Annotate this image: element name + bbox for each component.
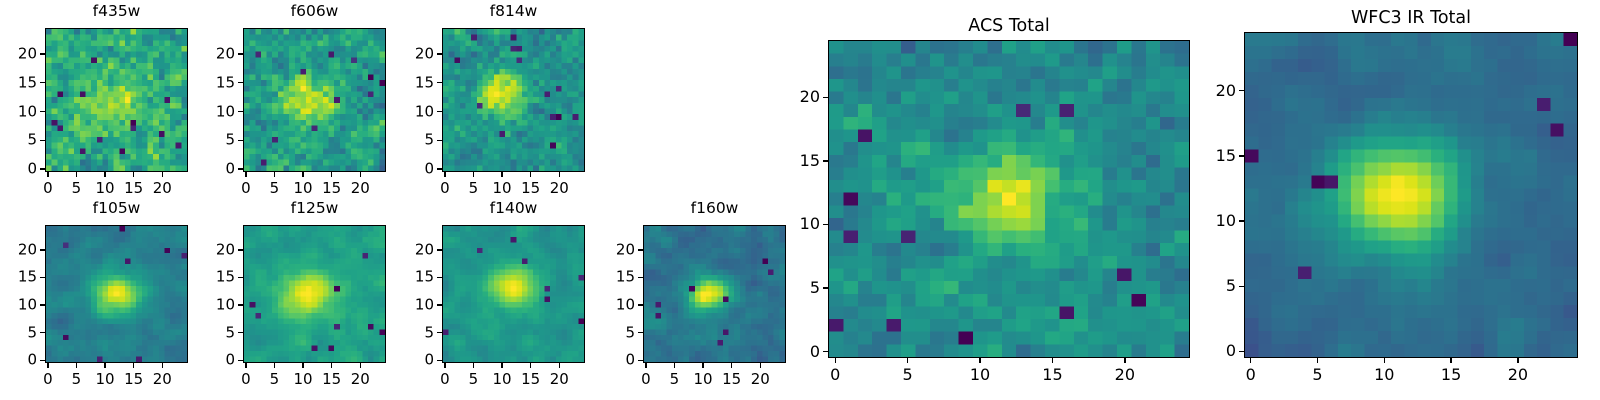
x-tick-label: 10 xyxy=(96,181,115,196)
axes-f140w xyxy=(442,225,585,363)
x-tick-label: 20 xyxy=(153,181,172,196)
y-tick xyxy=(823,287,828,288)
x-tick-label: 0 xyxy=(830,367,840,383)
axes-f814w xyxy=(442,28,585,172)
panel-title-f140w: f140w xyxy=(442,201,585,217)
x-tick-label: 15 xyxy=(322,181,341,196)
panel-title-f814w: f814w xyxy=(442,4,585,20)
x-tick-label: 5 xyxy=(469,372,479,387)
y-tick-label: 20 xyxy=(0,46,37,61)
y-tick-label: 20 xyxy=(181,242,235,257)
y-tick-label: 15 xyxy=(0,75,37,90)
y-tick xyxy=(1239,351,1244,352)
y-tick-label: 0 xyxy=(766,344,820,360)
y-tick-label: 20 xyxy=(380,242,434,257)
x-tick-label: 15 xyxy=(521,181,540,196)
x-tick-label: 5 xyxy=(1312,367,1322,383)
x-tick xyxy=(907,358,908,363)
panel-acs-total: ACS Total0510152005101520 xyxy=(766,14,1202,394)
y-tick-label: 15 xyxy=(181,75,235,90)
axes-f160w xyxy=(643,225,786,363)
x-tick-label: 5 xyxy=(270,181,280,196)
y-tick xyxy=(1239,286,1244,287)
y-tick-label: 20 xyxy=(380,46,434,61)
x-tick-label: 10 xyxy=(294,372,313,387)
x-tick xyxy=(674,363,675,368)
x-tick-label: 10 xyxy=(493,181,512,196)
y-tick xyxy=(40,249,45,250)
y-tick-label: 20 xyxy=(181,46,235,61)
x-tick xyxy=(1517,358,1518,363)
x-tick xyxy=(559,172,560,177)
y-tick-label: 20 xyxy=(581,242,635,257)
x-tick-label: 0 xyxy=(43,181,53,196)
y-tick xyxy=(238,168,243,169)
y-tick xyxy=(238,332,243,333)
y-tick-label: 5 xyxy=(0,325,37,340)
y-tick xyxy=(40,304,45,305)
x-tick xyxy=(1052,358,1053,363)
y-tick xyxy=(437,304,442,305)
heatmap-f160w xyxy=(644,226,785,362)
x-tick-label: 15 xyxy=(1441,367,1461,383)
y-tick-label: 10 xyxy=(380,298,434,313)
panel-title-f606w: f606w xyxy=(243,4,386,20)
x-tick-label: 10 xyxy=(294,181,313,196)
y-tick-label: 15 xyxy=(380,270,434,285)
axes-f606w xyxy=(243,28,386,172)
y-tick xyxy=(823,160,828,161)
x-tick-label: 5 xyxy=(469,181,479,196)
x-tick-label: 15 xyxy=(124,181,143,196)
y-tick-label: 10 xyxy=(0,104,37,119)
y-tick xyxy=(437,360,442,361)
y-tick xyxy=(437,140,442,141)
x-tick xyxy=(1450,358,1451,363)
panel-f105w: f105w0510152005101520 xyxy=(0,199,200,399)
y-tick xyxy=(638,277,643,278)
y-tick xyxy=(238,360,243,361)
x-tick xyxy=(162,363,163,368)
y-tick-label: 5 xyxy=(766,280,820,296)
x-tick-label: 15 xyxy=(1042,367,1062,383)
y-tick xyxy=(238,82,243,83)
y-tick xyxy=(238,304,243,305)
y-tick xyxy=(1239,155,1244,156)
x-tick-label: 10 xyxy=(493,372,512,387)
x-tick xyxy=(731,363,732,368)
x-tick-label: 5 xyxy=(72,372,82,387)
y-tick xyxy=(437,277,442,278)
y-tick-label: 15 xyxy=(1182,148,1236,164)
x-tick xyxy=(47,172,48,177)
axes-acs-total xyxy=(828,40,1190,358)
y-tick xyxy=(238,53,243,54)
y-tick xyxy=(238,140,243,141)
y-tick xyxy=(638,360,643,361)
x-tick-label: 0 xyxy=(440,181,450,196)
x-tick-label: 15 xyxy=(124,372,143,387)
y-tick-label: 10 xyxy=(581,298,635,313)
y-tick-label: 5 xyxy=(1182,278,1236,294)
y-tick xyxy=(40,53,45,54)
x-tick xyxy=(530,172,531,177)
y-tick xyxy=(437,249,442,250)
x-tick-label: 10 xyxy=(694,372,713,387)
y-tick-label: 0 xyxy=(581,353,635,368)
x-tick-label: 20 xyxy=(550,181,569,196)
y-tick-label: 10 xyxy=(766,216,820,232)
y-tick xyxy=(40,168,45,169)
heatmap-f125w xyxy=(244,226,385,362)
x-tick-label: 20 xyxy=(351,372,370,387)
y-tick-label: 0 xyxy=(380,353,434,368)
x-tick xyxy=(302,172,303,177)
x-tick xyxy=(274,363,275,368)
x-tick-label: 0 xyxy=(1246,367,1256,383)
y-tick xyxy=(40,332,45,333)
heatmap-wfc3-ir-total xyxy=(1245,33,1577,357)
y-tick xyxy=(437,53,442,54)
x-tick-label: 15 xyxy=(322,372,341,387)
x-tick xyxy=(1384,358,1385,363)
y-tick xyxy=(437,111,442,112)
x-tick-label: 20 xyxy=(153,372,172,387)
x-tick xyxy=(473,172,474,177)
y-tick-label: 0 xyxy=(181,353,235,368)
y-tick xyxy=(40,277,45,278)
y-tick-label: 20 xyxy=(766,89,820,105)
y-tick xyxy=(823,97,828,98)
x-tick-label: 10 xyxy=(1374,367,1394,383)
axes-f435w xyxy=(45,28,188,172)
panel-title-f160w: f160w xyxy=(643,201,786,217)
y-tick-label: 15 xyxy=(766,153,820,169)
panel-f814w: f814w0510152005101520 xyxy=(380,2,597,208)
panel-title-f125w: f125w xyxy=(243,201,386,217)
x-tick-label: 15 xyxy=(722,372,741,387)
x-tick-label: 0 xyxy=(641,372,651,387)
x-tick xyxy=(76,172,77,177)
figure-canvas: f435w0510152005101520f606w05101520051015… xyxy=(0,0,1600,400)
y-tick-label: 0 xyxy=(0,162,37,177)
panel-f140w: f140w0510152005101520 xyxy=(380,199,597,399)
x-tick-label: 0 xyxy=(241,181,251,196)
y-tick-label: 10 xyxy=(181,298,235,313)
y-tick xyxy=(238,249,243,250)
y-tick-label: 5 xyxy=(181,325,235,340)
y-tick xyxy=(238,277,243,278)
heatmap-f606w xyxy=(244,29,385,171)
x-tick-label: 15 xyxy=(521,372,540,387)
heatmap-f140w xyxy=(443,226,584,362)
x-tick-label: 5 xyxy=(270,372,280,387)
x-tick xyxy=(1317,358,1318,363)
y-tick-label: 15 xyxy=(0,270,37,285)
x-tick xyxy=(979,358,980,363)
y-tick-label: 15 xyxy=(380,75,434,90)
y-tick xyxy=(1239,90,1244,91)
panel-title-wfc3-ir-total: WFC3 IR Total xyxy=(1244,10,1578,28)
y-tick-label: 15 xyxy=(181,270,235,285)
panel-wfc3-ir-total: WFC3 IR Total0510152005101520 xyxy=(1182,6,1590,394)
y-tick xyxy=(823,224,828,225)
x-tick xyxy=(245,172,246,177)
x-tick xyxy=(645,363,646,368)
x-tick xyxy=(245,363,246,368)
x-tick-label: 0 xyxy=(440,372,450,387)
y-tick-label: 5 xyxy=(380,325,434,340)
x-tick xyxy=(835,358,836,363)
y-tick xyxy=(823,351,828,352)
x-tick-label: 20 xyxy=(1508,367,1528,383)
x-tick xyxy=(331,363,332,368)
y-tick xyxy=(40,360,45,361)
heatmap-f814w xyxy=(443,29,584,171)
x-tick xyxy=(530,363,531,368)
heatmap-acs-total xyxy=(829,41,1189,357)
x-tick xyxy=(1250,358,1251,363)
y-tick-label: 0 xyxy=(0,353,37,368)
y-tick-label: 15 xyxy=(581,270,635,285)
x-tick xyxy=(302,363,303,368)
x-tick xyxy=(133,363,134,368)
panel-f606w: f606w0510152005101520 xyxy=(181,2,398,208)
x-tick xyxy=(501,363,502,368)
x-tick xyxy=(76,363,77,368)
x-tick xyxy=(274,172,275,177)
y-tick-label: 5 xyxy=(581,325,635,340)
x-tick-label: 20 xyxy=(550,372,569,387)
y-tick xyxy=(437,168,442,169)
y-tick-label: 5 xyxy=(0,133,37,148)
x-tick-label: 5 xyxy=(72,181,82,196)
y-tick-label: 10 xyxy=(1182,213,1236,229)
x-tick xyxy=(360,363,361,368)
x-tick xyxy=(473,363,474,368)
x-tick-label: 20 xyxy=(1115,367,1135,383)
panel-title-f435w: f435w xyxy=(45,4,188,20)
x-tick xyxy=(559,363,560,368)
y-tick xyxy=(437,332,442,333)
y-tick-label: 5 xyxy=(380,133,434,148)
panel-f125w: f125w0510152005101520 xyxy=(181,199,398,399)
y-tick xyxy=(40,82,45,83)
x-tick xyxy=(162,172,163,177)
y-tick xyxy=(40,140,45,141)
x-tick-label: 5 xyxy=(903,367,913,383)
x-tick-label: 10 xyxy=(970,367,990,383)
y-tick xyxy=(638,332,643,333)
x-tick xyxy=(501,172,502,177)
y-tick-label: 10 xyxy=(380,104,434,119)
y-tick xyxy=(40,111,45,112)
x-tick xyxy=(360,172,361,177)
x-tick-label: 0 xyxy=(43,372,53,387)
y-tick-label: 0 xyxy=(181,162,235,177)
panel-title-acs-total: ACS Total xyxy=(828,18,1190,36)
y-tick xyxy=(238,111,243,112)
x-tick xyxy=(47,363,48,368)
x-tick-label: 0 xyxy=(241,372,251,387)
x-tick xyxy=(331,172,332,177)
y-tick xyxy=(638,304,643,305)
panel-f435w: f435w0510152005101520 xyxy=(0,2,200,208)
x-tick xyxy=(760,363,761,368)
y-tick-label: 0 xyxy=(1182,343,1236,359)
axes-f105w xyxy=(45,225,188,363)
axes-f125w xyxy=(243,225,386,363)
y-tick-label: 5 xyxy=(181,133,235,148)
x-tick xyxy=(702,363,703,368)
y-tick-label: 10 xyxy=(181,104,235,119)
heatmap-f435w xyxy=(46,29,187,171)
x-tick-label: 5 xyxy=(670,372,680,387)
x-tick xyxy=(444,172,445,177)
x-tick-label: 10 xyxy=(96,372,115,387)
x-tick xyxy=(104,363,105,368)
y-tick xyxy=(1239,220,1244,221)
axes-wfc3-ir-total xyxy=(1244,32,1578,358)
y-tick xyxy=(437,82,442,83)
y-tick-label: 20 xyxy=(1182,83,1236,99)
y-tick-label: 10 xyxy=(0,298,37,313)
panel-title-f105w: f105w xyxy=(45,201,188,217)
y-tick xyxy=(638,249,643,250)
x-tick xyxy=(133,172,134,177)
heatmap-f105w xyxy=(46,226,187,362)
x-tick xyxy=(444,363,445,368)
x-tick xyxy=(104,172,105,177)
x-tick-label: 20 xyxy=(351,181,370,196)
y-tick-label: 20 xyxy=(0,242,37,257)
y-tick-label: 0 xyxy=(380,162,434,177)
x-tick xyxy=(1124,358,1125,363)
